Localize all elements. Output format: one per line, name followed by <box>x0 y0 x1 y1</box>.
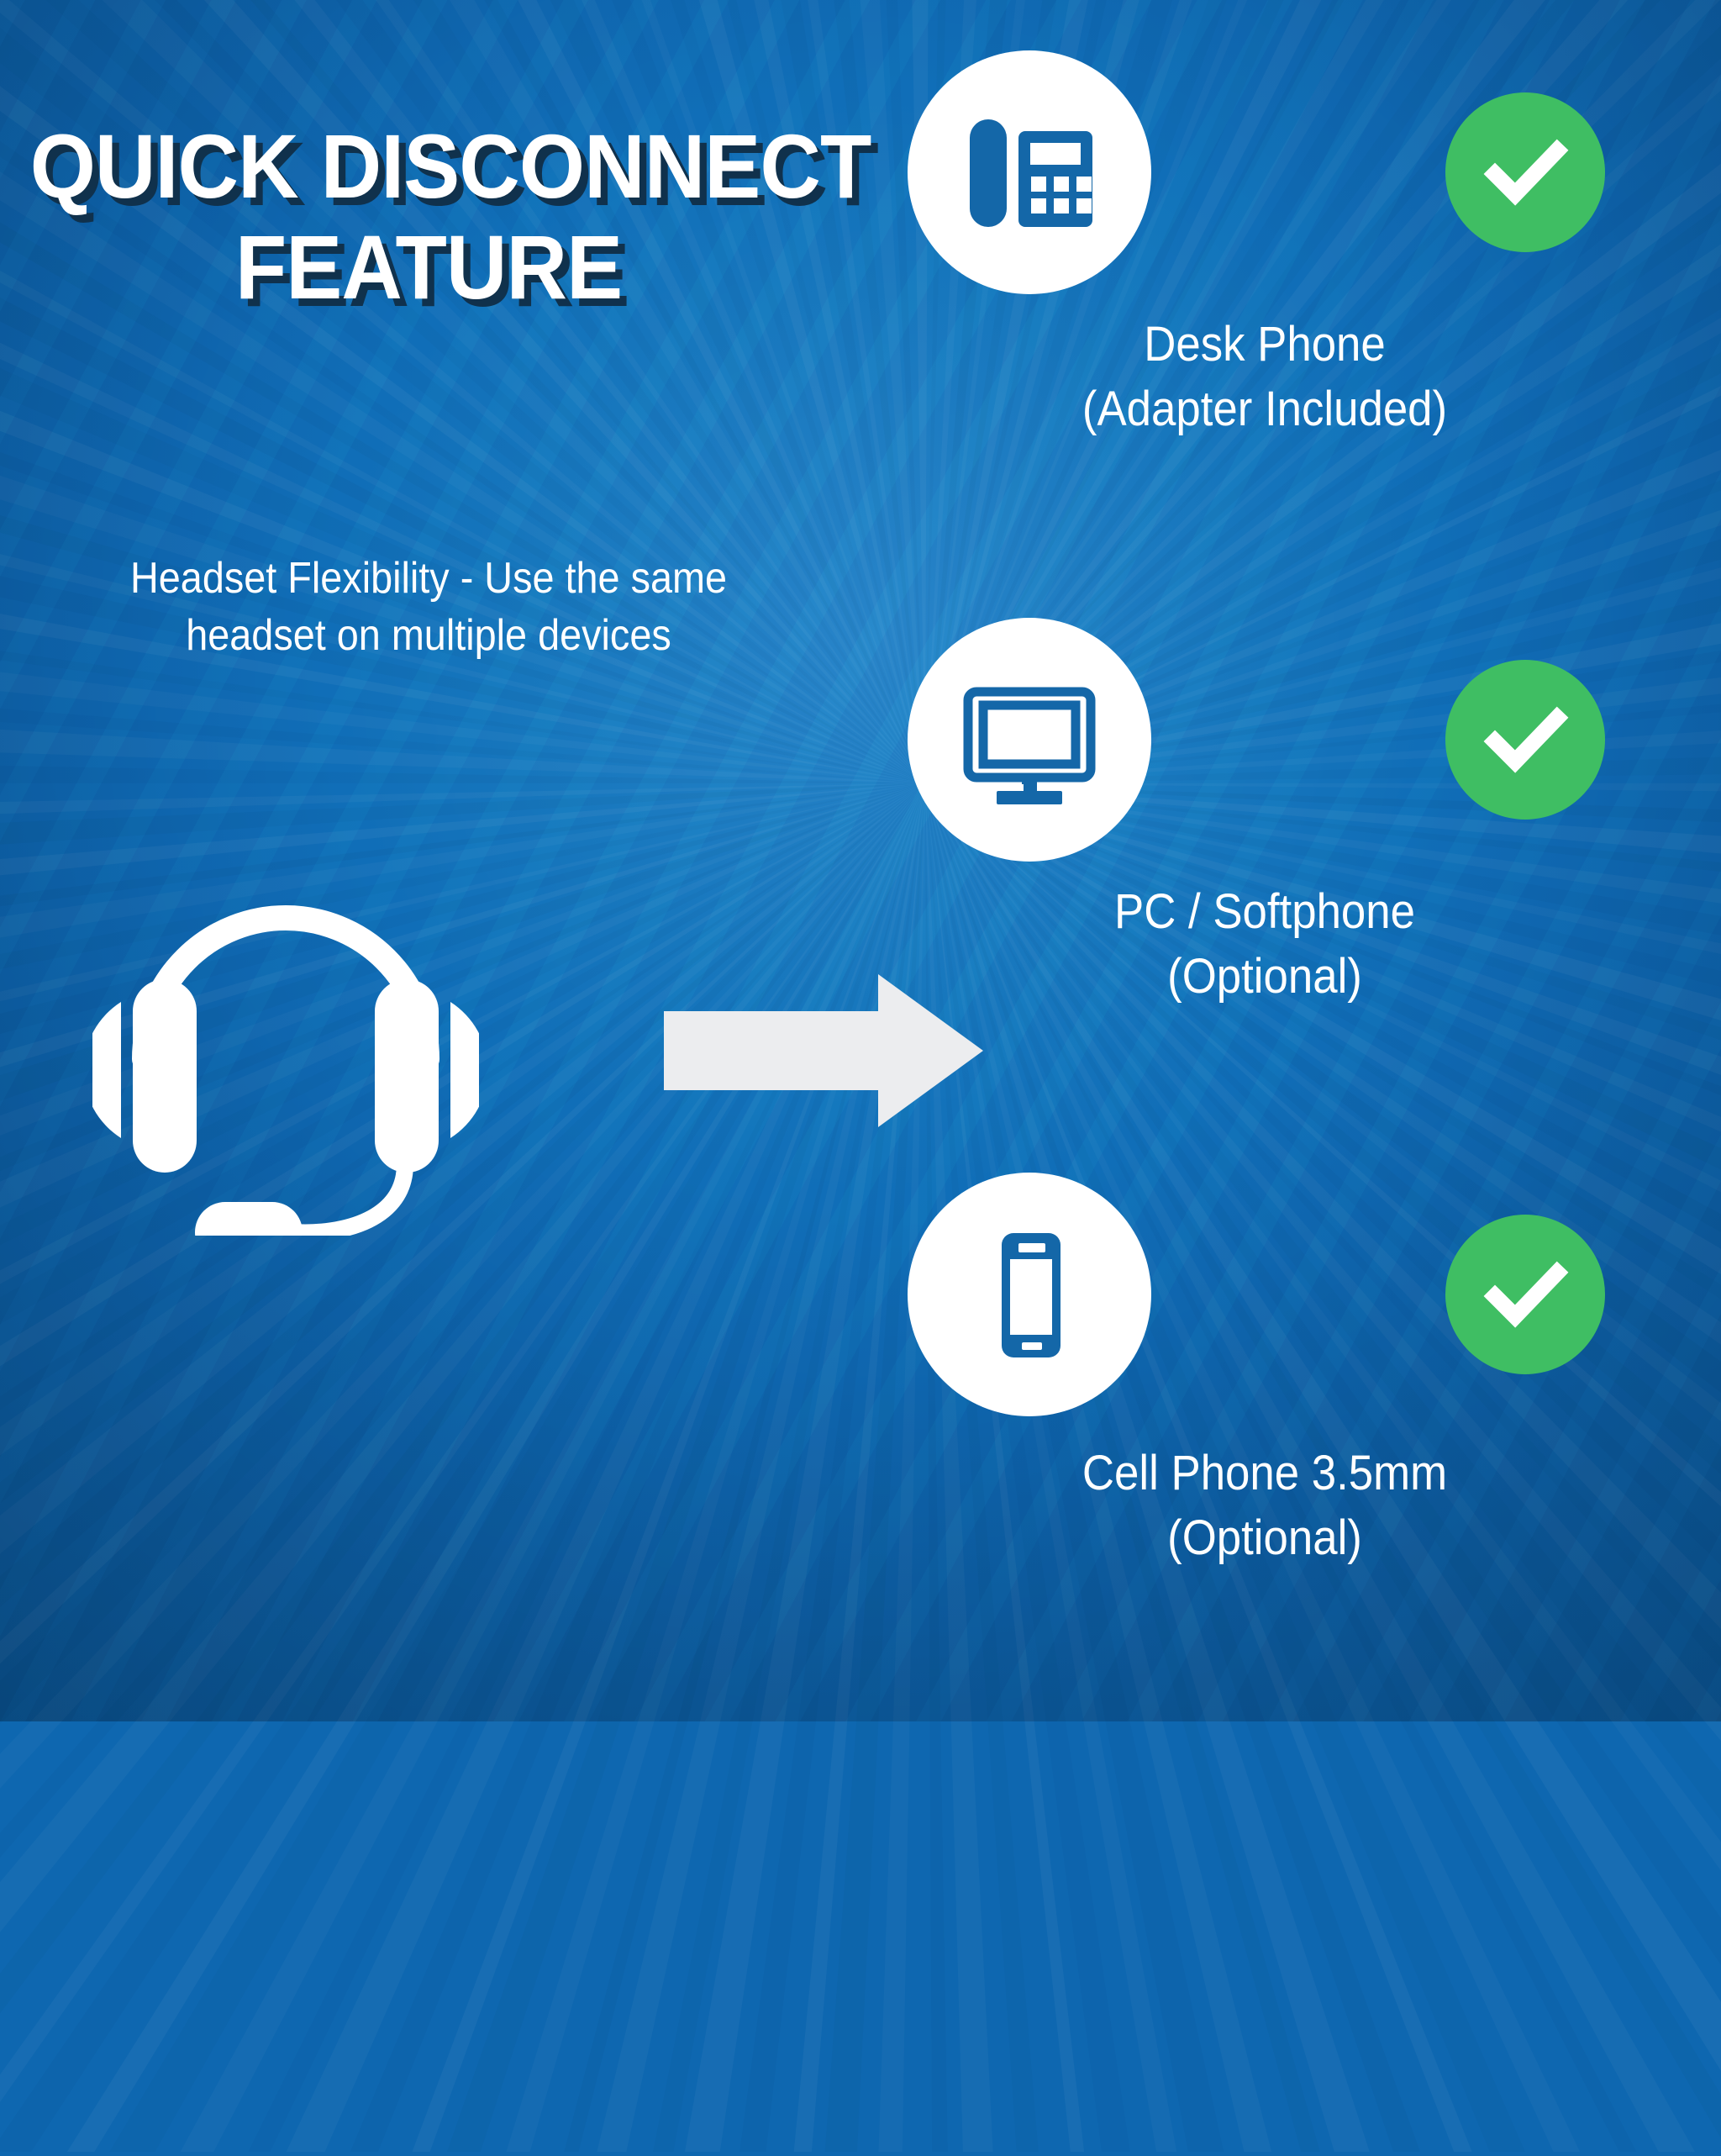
device-label-line-2: (Optional) <box>878 1506 1650 1571</box>
desk-phone-icon <box>908 50 1151 294</box>
device-label-desk-phone: Desk Phone (Adapter Included) <box>878 313 1650 441</box>
monitor-icon <box>908 618 1151 862</box>
mobile-phone-icon <box>908 1173 1151 1416</box>
device-label-line-2: (Adapter Included) <box>878 377 1650 442</box>
device-label-line-1: PC / Softphone <box>878 880 1650 945</box>
check-icon <box>1445 92 1605 252</box>
page-title-line-1: QUICK DISCONNECT <box>30 116 828 217</box>
tagline-text: Headset Flexibility - Use the same heads… <box>58 551 799 664</box>
page-title-line-2: FEATURE <box>30 217 828 318</box>
device-label-line-1: Desk Phone <box>878 313 1650 377</box>
page-title: QUICK DISCONNECT FEATURE <box>0 116 857 318</box>
headset-icon <box>92 782 479 1236</box>
device-label-pc-softphone: PC / Softphone (Optional) <box>878 880 1650 1009</box>
device-label-line-1: Cell Phone 3.5mm <box>878 1442 1650 1506</box>
check-icon <box>1445 660 1605 820</box>
check-icon <box>1445 1215 1605 1374</box>
device-label-cell-phone: Cell Phone 3.5mm (Optional) <box>878 1442 1650 1570</box>
device-label-line-2: (Optional) <box>878 945 1650 1009</box>
